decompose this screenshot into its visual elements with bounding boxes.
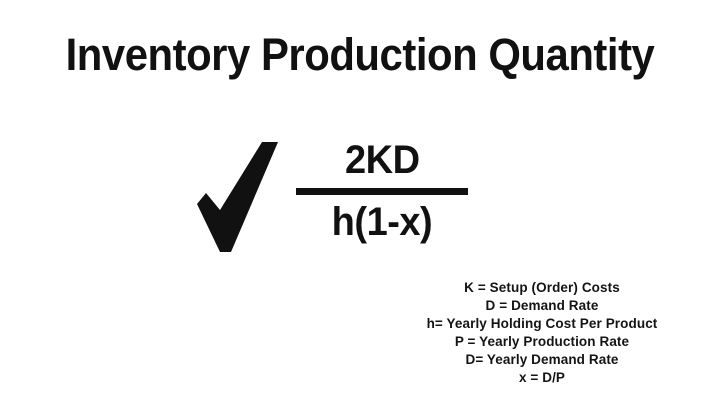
square-root-radical-icon	[196, 140, 282, 258]
legend-line: K = Setup (Order) Costs	[385, 279, 699, 297]
fraction: 2KD h(1-x)	[294, 138, 470, 245]
legend-line: P = Yearly Production Rate	[385, 333, 699, 351]
page-title: Inventory Production Quantity	[25, 28, 695, 82]
formula-block: 2KD h(1-x)	[196, 136, 496, 261]
slide-canvas: Inventory Production Quantity 2KD h(1-x)…	[0, 0, 720, 411]
legend-line: x = D/P	[385, 369, 699, 387]
fraction-bar	[296, 188, 468, 195]
fraction-denominator: h(1-x)	[332, 199, 433, 245]
legend-line: D= Yearly Demand Rate	[385, 351, 699, 369]
legend-line: h= Yearly Holding Cost Per Product	[385, 315, 699, 333]
variable-legend: K = Setup (Order) Costs D = Demand Rate …	[385, 279, 699, 387]
fraction-numerator: 2KD	[345, 138, 420, 182]
legend-line: D = Demand Rate	[385, 297, 699, 315]
